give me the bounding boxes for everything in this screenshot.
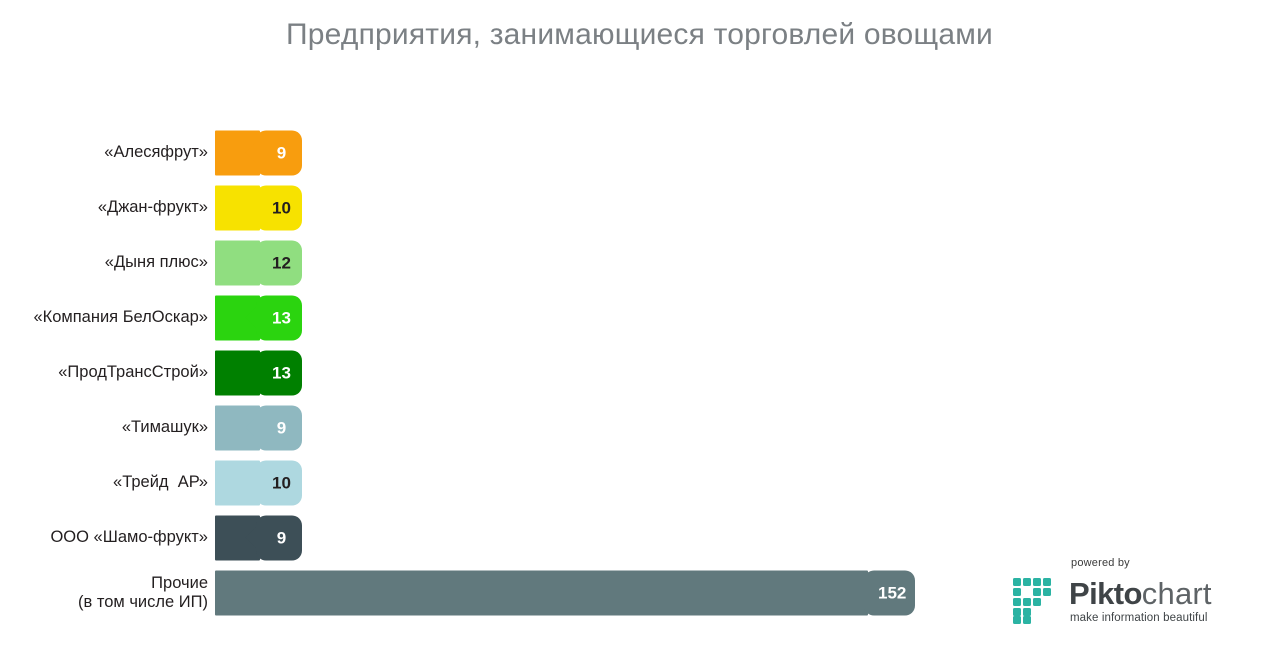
bar-row-label: «Тимашук» [0, 418, 215, 437]
bar-row[interactable]: «Тимашук»9 [0, 400, 1279, 455]
bar-value: 9 [277, 419, 286, 436]
bar-row-label: «Трейд АР» [0, 473, 215, 492]
bar-value: 13 [272, 364, 291, 381]
bar-value-callout: 9 [256, 130, 302, 175]
powered-by-label: powered by [1071, 557, 1130, 569]
bar-value: 152 [878, 584, 906, 601]
bar-row-label-line1: «Тимашук» [122, 418, 208, 436]
bar-row[interactable]: «ПродТрансСтрой»13 [0, 345, 1279, 400]
bar-row-label-line1: «Дыня плюс» [105, 253, 208, 271]
bar-track: 13 [215, 345, 1279, 400]
bar-track: 10 [215, 455, 1279, 510]
callout-tail-icon [245, 142, 257, 164]
piktochart-logo-mark [1013, 578, 1059, 624]
bar-row-label-line1: «Алесяфрут» [104, 143, 208, 161]
bar[interactable] [215, 570, 868, 615]
bar-row[interactable]: «Трейд АР»10 [0, 455, 1279, 510]
callout-tail-icon [245, 362, 257, 384]
bar-value: 10 [272, 474, 291, 491]
bar-value-callout: 9 [256, 405, 302, 450]
bar-row-label: «Дыня плюс» [0, 253, 215, 272]
piktochart-wordmark-bold: Pikto [1069, 576, 1142, 611]
piktochart-logo: powered by Piktochart mak [1013, 557, 1198, 627]
bar-value: 10 [272, 199, 291, 216]
callout-tail-icon [245, 527, 257, 549]
bar-value-callout: 10 [256, 460, 302, 505]
bar-row-label-line1: «Джан-фрукт» [98, 198, 208, 216]
bar-row[interactable]: «Компания БелОскар»13 [0, 290, 1279, 345]
bar-chart: «Алесяфрут»9«Джан-фрукт»10«Дыня плюс»12«… [0, 125, 1279, 620]
bar-row[interactable]: «Дыня плюс»12 [0, 235, 1279, 290]
bar-track: 9 [215, 400, 1279, 455]
bar-track: 12 [215, 235, 1279, 290]
bar-value: 9 [277, 529, 286, 546]
callout-tail-icon [245, 472, 257, 494]
bar-value: 13 [272, 309, 291, 326]
bar-value-callout: 10 [256, 185, 302, 230]
bar-row-label: Прочие(в том числе ИП) [0, 574, 215, 612]
bar-row-label-line1: Прочие [151, 574, 208, 592]
bar-value-callout: 13 [256, 295, 302, 340]
bar-value-callout: 12 [256, 240, 302, 285]
callout-tail-icon [245, 252, 257, 274]
bar-value-callout: 152 [864, 570, 915, 615]
callout-tail-icon [245, 307, 257, 329]
bar-row-label: ООО «Шамо-фрукт» [0, 528, 215, 547]
bar-track: 10 [215, 180, 1279, 235]
piktochart-wordmark: Piktochart [1069, 577, 1212, 611]
bar-value: 9 [277, 144, 286, 161]
bar-row[interactable]: «Джан-фрукт»10 [0, 180, 1279, 235]
piktochart-wordmark-light: chart [1142, 576, 1212, 611]
bar-row-label-line1: «ПродТрансСтрой» [58, 363, 208, 381]
bar-value-callout: 13 [256, 350, 302, 395]
callout-tail-icon [245, 417, 257, 439]
bar-row[interactable]: «Алесяфрут»9 [0, 125, 1279, 180]
bar-row-label-line1: «Компания БелОскар» [33, 308, 208, 326]
bar-row-label-line1: «Трейд АР» [113, 473, 208, 491]
bar-track: 13 [215, 290, 1279, 345]
bar-value-callout: 9 [256, 515, 302, 560]
bar-value: 12 [272, 254, 291, 271]
bar-track: 9 [215, 125, 1279, 180]
bar-row-label-line2: (в том числе ИП) [0, 593, 208, 612]
bar-row-label: «ПродТрансСтрой» [0, 363, 215, 382]
piktochart-tagline: make information beautiful [1070, 612, 1207, 624]
bar-row-label-line1: ООО «Шамо-фрукт» [50, 528, 208, 546]
bar-row-label: «Алесяфрут» [0, 143, 215, 162]
callout-tail-icon [853, 582, 865, 604]
bar-row-label: «Компания БелОскар» [0, 308, 215, 327]
callout-tail-icon [245, 197, 257, 219]
bar-row-label: «Джан-фрукт» [0, 198, 215, 217]
page-title: Предприятия, занимающиеся торговлей овощ… [0, 18, 1279, 52]
